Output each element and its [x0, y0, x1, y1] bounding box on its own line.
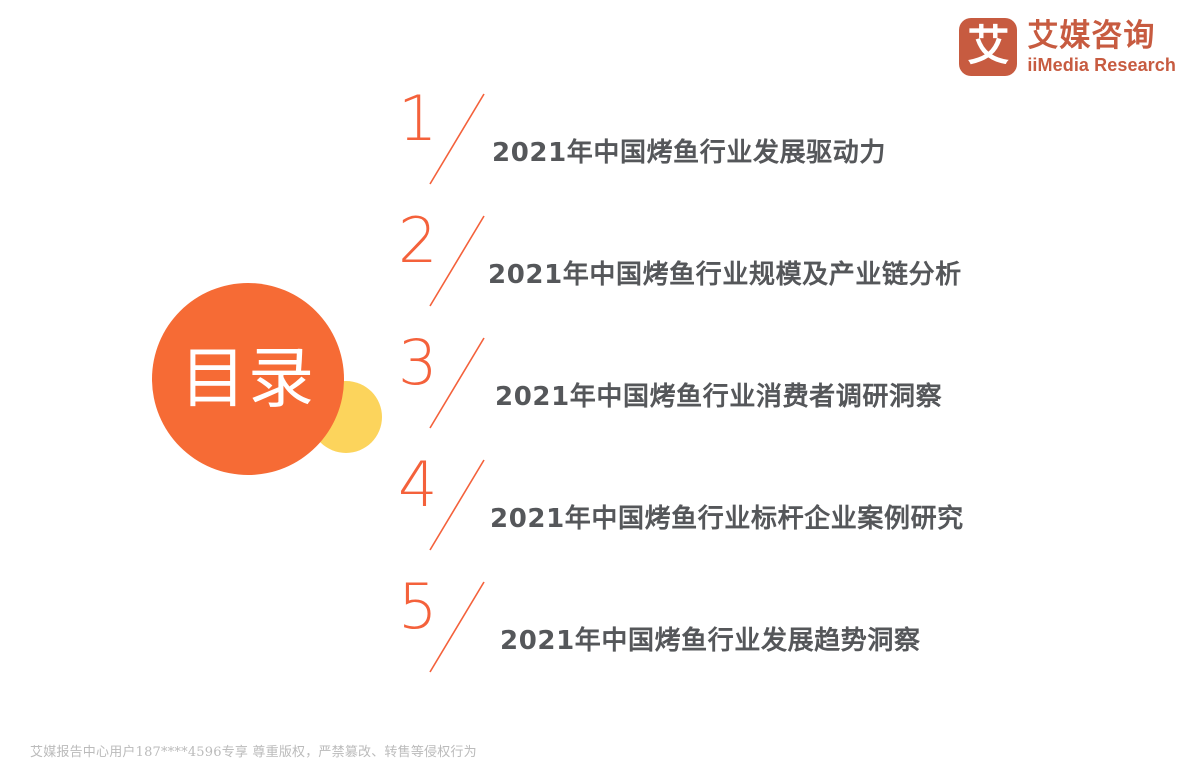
toc-entry-label: 2021年中国烤鱼行业发展驱动力	[492, 132, 886, 169]
toc-entry-label: 2021年中国烤鱼行业规模及产业链分析	[488, 254, 962, 291]
toc-entry-3[interactable]: 3 2021年中国烤鱼行业消费者调研洞察	[398, 328, 1158, 450]
toc-number: 4	[398, 454, 437, 516]
iimedia-logo-icon: 艾	[959, 18, 1017, 76]
toc-decoration: 目录	[152, 283, 382, 483]
toc-entry-2[interactable]: 2 2021年中国烤鱼行业规模及产业链分析	[398, 206, 1158, 328]
brand-name-en: iiMedia Research	[1027, 56, 1176, 74]
brand-text: 艾媒咨询 iiMedia Research	[1027, 21, 1176, 74]
toc-slide: 艾 艾媒咨询 iiMedia Research 目录 1 2021年中国烤鱼行业…	[0, 0, 1190, 774]
toc-number: 2	[398, 210, 437, 272]
toc-entry-label: 2021年中国烤鱼行业标杆企业案例研究	[490, 498, 964, 535]
toc-entry-1[interactable]: 1 2021年中国烤鱼行业发展驱动力	[398, 84, 1158, 206]
toc-list: 1 2021年中国烤鱼行业发展驱动力 2 2021年中国烤鱼行业规模及产业链分析…	[398, 84, 1158, 694]
copyright-watermark: 艾媒报告中心用户187****4596专享 尊重版权，严禁篡改、转售等侵权行为	[30, 741, 477, 760]
brand-logo: 艾 艾媒咨询 iiMedia Research	[959, 18, 1176, 76]
toc-entry-label: 2021年中国烤鱼行业发展趋势洞察	[500, 620, 921, 657]
toc-heading: 目录	[180, 346, 316, 412]
toc-entry-5[interactable]: 5 2021年中国烤鱼行业发展趋势洞察	[398, 572, 1158, 694]
brand-mark-glyph: 艾	[967, 25, 1009, 67]
toc-number: 1	[398, 88, 437, 150]
toc-number: 3	[398, 332, 437, 394]
toc-entry-4[interactable]: 4 2021年中国烤鱼行业标杆企业案例研究	[398, 450, 1158, 572]
orange-circle-icon: 目录	[152, 283, 344, 475]
brand-name-cn: 艾媒咨询	[1027, 21, 1176, 52]
toc-number: 5	[398, 576, 437, 638]
toc-entry-label: 2021年中国烤鱼行业消费者调研洞察	[495, 376, 942, 413]
